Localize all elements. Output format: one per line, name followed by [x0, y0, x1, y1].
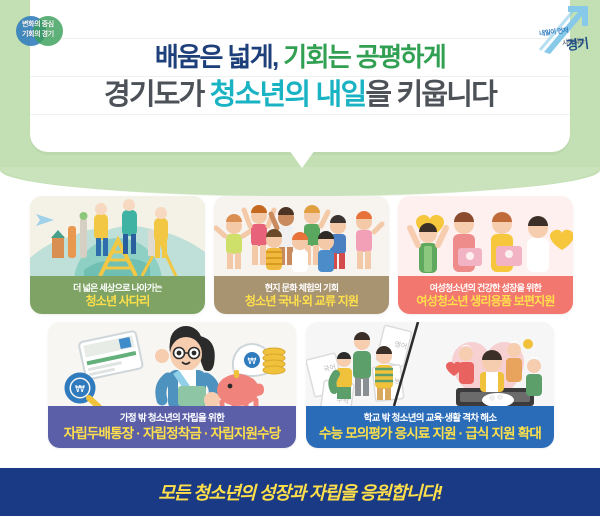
- card-sanitary-products-title: 여성청소년 생리용품 보편지원: [416, 294, 554, 309]
- poster-root: 변화의 중심 기회의 경기 내일이 먼저 시작되는 경기 배움은 넓게, 기회는…: [0, 0, 600, 516]
- card-school-outside-support[interactable]: 국어 수학 영어 수능: [306, 322, 554, 448]
- svg-text:₩: ₩: [248, 357, 257, 367]
- headline-line-1: 배움은 넓게, 기회는 공평하게: [30, 42, 570, 72]
- exam-meal-icon: 국어 수학 영어 수능: [306, 322, 554, 406]
- children-group-icon: [214, 196, 389, 276]
- headline-line-2: 경기도가 청소년의 내일을 키웁니다: [30, 77, 570, 113]
- card-youth-ladder-label: 더 넓은 세상으로 나아가는 청소년 사다리: [30, 276, 205, 314]
- card-independence-support-title: 자립두배통장 · 자립정착금 · 자립지원수당: [64, 425, 281, 442]
- card-independence-support[interactable]: ₩: [48, 322, 296, 448]
- page-title: 배움은 넓게, 기회는 공평하게 경기도가 청소년의 내일을 키웁니다: [30, 42, 570, 113]
- card-exchange-support-title: 청소년 국내·외 교류 지원: [245, 294, 358, 309]
- card-school-outside-support-subtitle: 학교 밖 청소년의 교육·생활 격차 해소: [364, 412, 497, 425]
- footer-banner: 모든 청소년의 성장과 자립을 응원합니다!: [0, 468, 600, 516]
- card-exchange-support-subtitle: 현지 문화 체험의 기회: [265, 282, 339, 294]
- logo-left-line1: 변화의 중심: [22, 20, 100, 30]
- card-sanitary-products[interactable]: 여성청소년의 건강한 성장을 위한 여성청소년 생리용품 보편지원: [398, 196, 573, 314]
- globe-ladder-icon: [30, 196, 205, 276]
- logo-left-text: 변화의 중심 기회의 경기: [22, 20, 100, 39]
- headline-line1-part1: 배움은 넓게,: [155, 42, 278, 72]
- heart-girls-icon: [398, 196, 573, 276]
- logo-left-line2: 기회의 경기: [22, 30, 100, 40]
- savings-bankbook-icon: ₩: [48, 322, 296, 406]
- svg-text:₩: ₩: [75, 384, 85, 395]
- headline-line2-part3: 을 키웁니다: [365, 79, 496, 111]
- card-youth-ladder[interactable]: 더 넓은 세상으로 나아가는 청소년 사다리: [30, 196, 205, 314]
- headline-line2-part2: 청소년의 내일: [210, 79, 366, 111]
- card-independence-support-subtitle: 가정 밖 청소년의 자립을 위한: [120, 412, 224, 425]
- card-school-outside-support-label: 학교 밖 청소년의 교육·생활 격차 해소 수능 모의평가 응시료 지원 · 급…: [306, 406, 554, 448]
- card-exchange-support-label: 현지 문화 체험의 기회 청소년 국내·외 교류 지원: [214, 276, 389, 314]
- card-independence-support-label: 가정 밖 청소년의 자립을 위한 자립두배통장 · 자립정착금 · 자립지원수당: [48, 406, 296, 448]
- card-sanitary-products-label: 여성청소년의 건강한 성장을 위한 여성청소년 생리용품 보편지원: [398, 276, 573, 314]
- footer-banner-text: 모든 청소년의 성장과 자립을 응원합니다!: [158, 479, 441, 505]
- bubble-tail: [289, 150, 315, 168]
- headline-line2-part1: 경기도가: [104, 79, 204, 111]
- card-school-outside-support-title: 수능 모의평가 응시료 지원 · 급식 지원 확대: [319, 425, 541, 442]
- card-sanitary-products-subtitle: 여성청소년의 건강한 성장을 위한: [430, 282, 542, 294]
- card-youth-ladder-subtitle: 더 넓은 세상으로 나아가는: [73, 282, 162, 294]
- headline-line1-part2: 기회는 공평하게: [283, 42, 445, 72]
- card-youth-ladder-title: 청소년 사다리: [86, 294, 150, 309]
- card-exchange-support[interactable]: 현지 문화 체험의 기회 청소년 국내·외 교류 지원: [214, 196, 389, 314]
